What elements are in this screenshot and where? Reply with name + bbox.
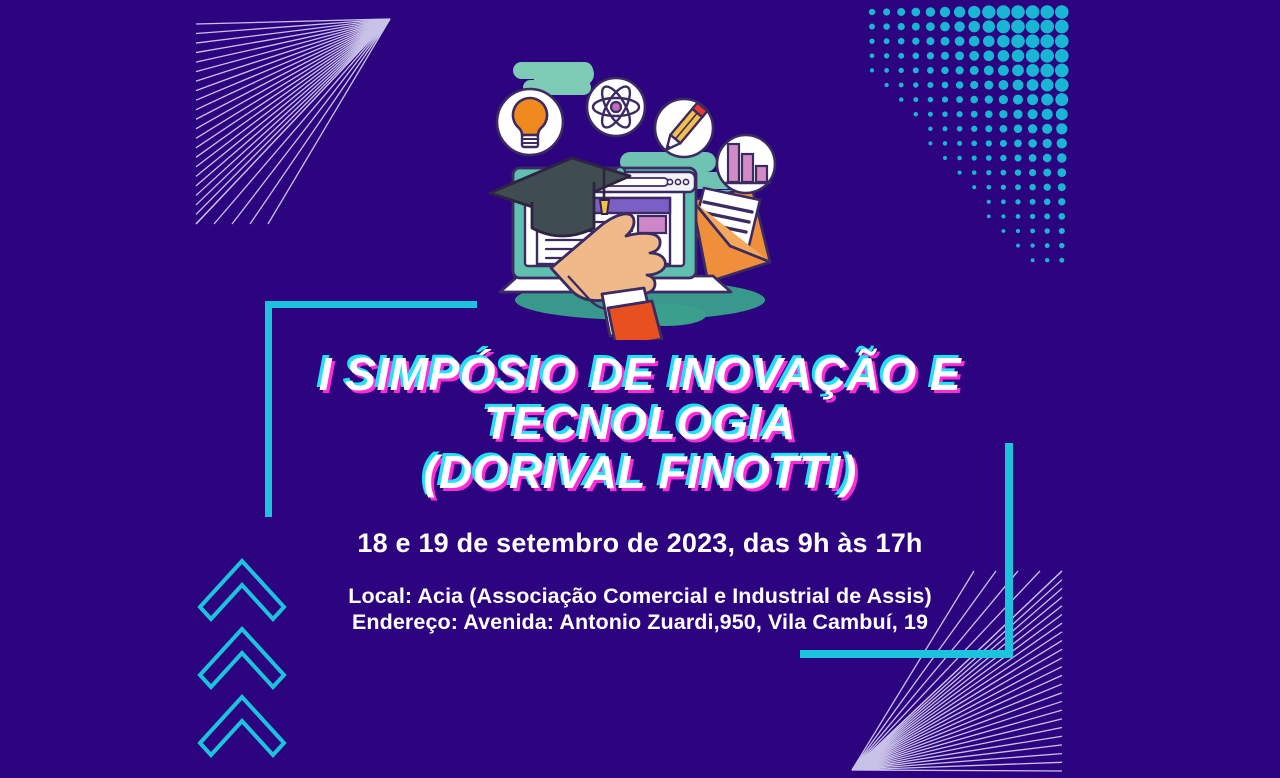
envelope-icon [692, 188, 770, 282]
venue-info: Local: Acia (Associação Comercial e Indu… [0, 583, 1280, 635]
pencil-icon [655, 99, 713, 157]
corner-bracket-top-left-horizontal [265, 301, 477, 308]
title-line-1: I SIMPÓSIO DE INOVAÇÃO E [0, 350, 1280, 399]
chevron-up-icon [200, 697, 284, 755]
cta-button-shape [638, 216, 666, 233]
corner-bracket-bottom-right-horizontal [800, 650, 1013, 658]
lightbulb-icon [497, 89, 563, 155]
poster-canvas: I SIMPÓSIO DE INOVAÇÃO E TECNOLOGIA (DOR… [0, 0, 1280, 778]
event-date-line: 18 e 19 de setembro de 2023, das 9h às 1… [0, 528, 1280, 559]
poster-title: I SIMPÓSIO DE INOVAÇÃO E TECNOLOGIA (DOR… [0, 350, 1280, 497]
venue-address-line: Endereço: Avenida: Antonio Zuardi,950, V… [0, 609, 1280, 635]
bar-chart-icon [717, 135, 775, 193]
chevron-up-icon [200, 629, 284, 687]
venue-location-line: Local: Acia (Associação Comercial e Indu… [0, 583, 1280, 609]
e-learning-illustration [480, 50, 790, 340]
chevron-stack [195, 545, 305, 770]
atom-icon [587, 78, 645, 136]
title-line-3: (DORIVAL FINOTTI) [0, 448, 1280, 497]
title-line-2: TECNOLOGIA [0, 399, 1280, 448]
